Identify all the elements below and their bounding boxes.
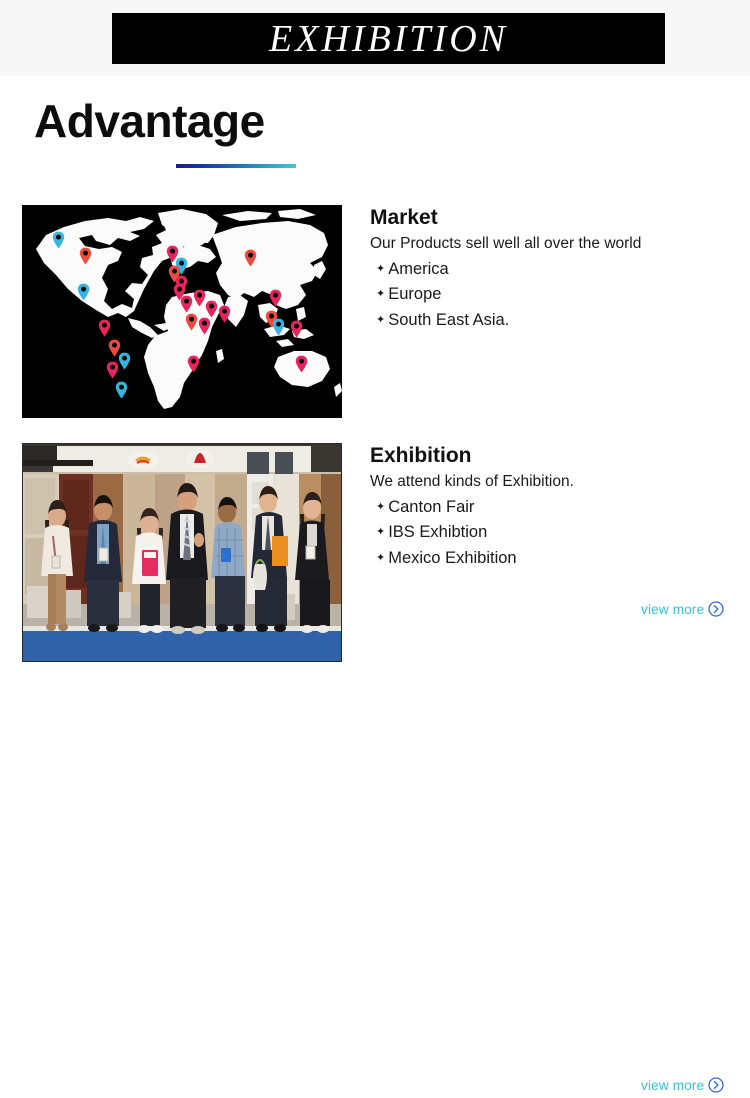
map-pin-icon: [272, 318, 285, 336]
map-pin-icon: [185, 313, 198, 331]
market-title: Market: [370, 205, 730, 231]
exhibition-subtitle: We attend kinds of Exhibition.: [370, 471, 730, 493]
list-item-label: America: [388, 257, 449, 283]
photo-frame: [22, 443, 342, 662]
list-item-label: South East Asia.: [388, 308, 509, 334]
map-pin-icon: [295, 355, 308, 373]
map-frame: [22, 205, 342, 418]
page-title: Advantage: [34, 96, 454, 147]
map-pin-icon: [269, 289, 282, 307]
view-more-link-market[interactable]: view more: [641, 601, 724, 617]
list-item: ✦Canton Fair: [376, 495, 730, 521]
map-pin-icon: [52, 231, 65, 249]
view-more-link-exhibition[interactable]: view more: [641, 1077, 724, 1093]
map-pin-icon: [77, 283, 90, 301]
banner-title: EXHIBITION: [269, 20, 508, 58]
chevron-right-circle-icon: [708, 1077, 724, 1093]
view-more-label: view more: [641, 1078, 704, 1093]
map-pin-icon: [118, 352, 131, 370]
list-item-label: Canton Fair: [388, 495, 474, 521]
map-pin-icon: [218, 305, 231, 323]
map-pin-icon: [187, 355, 200, 373]
list-item: ✦Mexico Exhibition: [376, 546, 730, 572]
list-item-label: IBS Exhibtion: [388, 520, 487, 546]
bullet-diamond-icon: ✦: [376, 553, 385, 564]
view-more-label: view more: [641, 602, 704, 617]
list-item-label: Europe: [388, 282, 441, 308]
map-pin-icon: [180, 295, 193, 313]
chevron-right-circle-icon: [708, 601, 724, 617]
list-item: ✦South East Asia.: [376, 308, 730, 334]
list-item: ✦IBS Exhibtion: [376, 520, 730, 546]
banner-strip: EXHIBITION: [0, 0, 750, 76]
exhibition-booth-photo: [22, 443, 342, 662]
list-item-label: Mexico Exhibition: [388, 546, 516, 572]
map-pin-icon: [244, 249, 257, 267]
map-pin-icon: [98, 319, 111, 337]
exhibition-title: Exhibition: [370, 443, 730, 469]
map-pin-icon: [198, 317, 211, 335]
market-subtitle: Our Products sell well all over the worl…: [370, 233, 730, 255]
map-pin-icon: [79, 247, 92, 265]
heading-underline-accent: [176, 164, 296, 168]
bullet-diamond-icon: ✦: [376, 502, 385, 513]
exhibition-text-column: Exhibition We attend kinds of Exhibition…: [370, 443, 730, 571]
exhibition-photo-svg: [23, 444, 341, 661]
market-text-column: Market Our Products sell well all over t…: [370, 205, 730, 333]
world-map-image: [22, 205, 342, 418]
section-header: Advantage: [34, 96, 454, 147]
map-pin-icon: [205, 300, 218, 318]
list-item: ✦Europe: [376, 282, 730, 308]
map-pin-icon: [290, 320, 303, 338]
exhibition-banner: EXHIBITION: [112, 13, 665, 64]
market-bullet-list: ✦America✦Europe✦South East Asia.: [370, 257, 730, 334]
map-pin-icon: [115, 381, 128, 399]
bullet-diamond-icon: ✦: [376, 527, 385, 538]
list-item: ✦America: [376, 257, 730, 283]
bullet-diamond-icon: ✦: [376, 289, 385, 300]
exhibition-bullet-list: ✦Canton Fair✦IBS Exhibtion✦Mexico Exhibi…: [370, 495, 730, 572]
bullet-diamond-icon: ✦: [376, 264, 385, 275]
bullet-diamond-icon: ✦: [376, 315, 385, 326]
